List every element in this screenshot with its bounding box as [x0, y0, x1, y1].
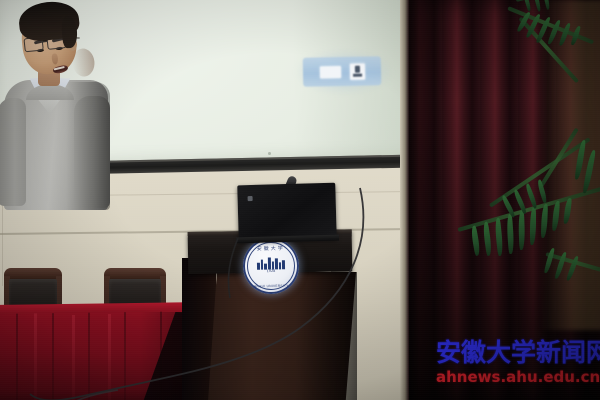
- watermark-site-name: 安徽大学新闻网: [436, 338, 600, 368]
- nose: [51, 53, 58, 65]
- palm-plant: [430, 0, 600, 390]
- watermark-url: ahnews.ahu.edu.cn: [436, 368, 600, 386]
- power-cable: [0, 180, 420, 400]
- lecture-hall-photo: 安徽大学 1928 ANHUI UNIVERSITY: [0, 0, 600, 400]
- watermark: 安徽大学新闻网 ahnews.ahu.edu.cn: [436, 338, 600, 396]
- torso-shadow: [66, 82, 110, 210]
- teeth: [54, 66, 65, 71]
- screen-speck: [268, 152, 271, 155]
- projected-toolbar[interactable]: [303, 56, 382, 86]
- document-icon[interactable]: [349, 63, 364, 79]
- presenter-arm-left: [0, 98, 26, 206]
- rectangle-button-icon[interactable]: [319, 66, 340, 78]
